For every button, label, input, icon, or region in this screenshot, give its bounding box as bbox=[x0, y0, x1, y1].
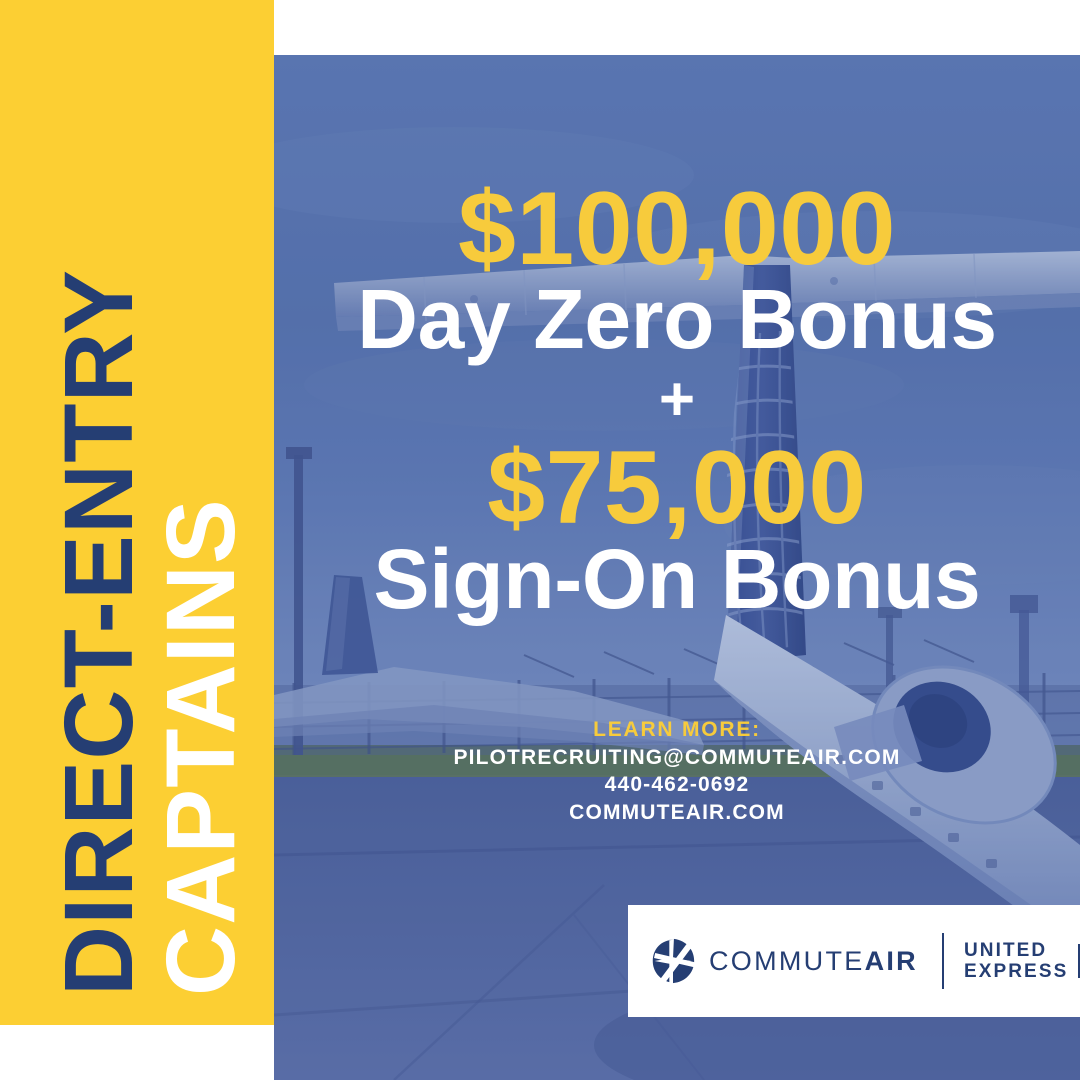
poster-root: DIRECT-ENTRY CAPTAINS $100,000 Day Zero … bbox=[0, 0, 1080, 1080]
contact-block: LEARN MORE: PILOTRECRUITING@COMMUTEAIR.C… bbox=[274, 716, 1080, 827]
commuteair-k-mark-icon bbox=[650, 938, 696, 984]
plus-separator: + bbox=[274, 369, 1080, 431]
learn-more-heading: LEARN MORE: bbox=[274, 716, 1080, 744]
united-line-2: EXPRESS bbox=[964, 961, 1068, 982]
bonus-label-primary: Day Zero Bonus bbox=[274, 276, 1080, 363]
contact-email[interactable]: PILOTRECRUITING@COMMUTEAIR.COM bbox=[274, 744, 1080, 772]
side-banner-line-captains: CAPTAINS bbox=[152, 498, 249, 996]
logo-lockup-inner: COMMUTEAIR UNITED EXPRESS bbox=[650, 933, 1080, 989]
commuteair-wordmark: COMMUTEAIR bbox=[709, 946, 918, 977]
contact-website[interactable]: COMMUTEAIR.COM bbox=[274, 799, 1080, 827]
wordmark-air: AIR bbox=[865, 946, 918, 976]
side-banner-panel: DIRECT-ENTRY CAPTAINS bbox=[0, 0, 274, 1025]
bonus-amount-secondary: $75,000 bbox=[274, 435, 1080, 541]
bonus-label-secondary: Sign-On Bonus bbox=[274, 536, 1080, 623]
wordmark-commute: COMMUTE bbox=[709, 946, 865, 976]
united-express-lockup: UNITED EXPRESS bbox=[964, 940, 1080, 983]
united-express-text: UNITED EXPRESS bbox=[964, 940, 1068, 983]
bonus-amount-primary: $100,000 bbox=[274, 176, 1080, 282]
headline-block: $100,000 Day Zero Bonus + $75,000 Sign-O… bbox=[274, 176, 1080, 623]
logo-divider bbox=[942, 933, 944, 989]
logo-lockup-box: COMMUTEAIR UNITED EXPRESS bbox=[628, 905, 1080, 1017]
side-banner-line-direct-entry: DIRECT-ENTRY bbox=[50, 269, 147, 996]
contact-phone[interactable]: 440-462-0692 bbox=[274, 771, 1080, 799]
united-line-1: UNITED bbox=[964, 940, 1068, 961]
